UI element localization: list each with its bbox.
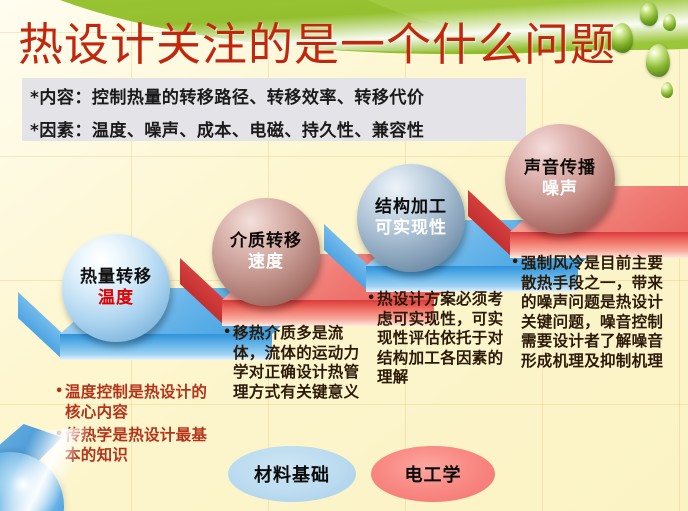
step-sphere-2[interactable]: 介质转移 速度 [212,198,320,306]
info-line-content: *内容：控制热量的转移路径、转移效率、转移代价 [22,78,526,108]
water-drop-green-icon [661,82,673,98]
info-line-factors: *因素：温度、噪声、成本、电磁、持久性、兼容性 [22,108,526,141]
info-box: *内容：控制热量的转移路径、转移效率、转移代价 *因素：温度、噪声、成本、电磁、… [22,78,526,141]
sphere-title: 声音传播 [524,159,596,178]
footer-oval-label: 电工学 [405,461,462,487]
footer-oval-electrical[interactable]: 电工学 [371,446,495,502]
footer-oval-label: 材料基础 [254,461,330,487]
step-sphere-3[interactable]: 结构加工 可实现性 [357,164,465,272]
bullet-item: 移热介质多是流体，流体的运动力学对正确设计热管理方式有关键意义 [224,324,374,402]
bullet-item: 强制风冷是目前主要散热手段之一，带来的噪声问题是热设计关键问题，噪音控制需要设计… [512,254,668,371]
sphere-title: 结构加工 [375,198,447,217]
step-sphere-1[interactable]: 热量转移 温度 [62,234,170,342]
sphere-subtitle: 噪声 [542,180,578,199]
step-bullets-4: 强制风冷是目前主要散热手段之一，带来的噪声问题是热设计关键问题，噪音控制需要设计… [512,254,668,375]
bullet-item: 传热学是热设计最基本的知识 [56,426,208,465]
bullet-item: 温度控制是热设计的核心内容 [56,383,208,422]
bullet-item: 热设计方案必须考虑可实现性，可实现性评估依托于对结构加工各因素的理解 [368,290,518,388]
water-drop-blue-icon [0,452,64,511]
step-bullets-2: 移热介质多是流体，流体的运动力学对正确设计热管理方式有关键意义 [224,324,374,406]
step-sphere-4[interactable]: 声音传播 噪声 [505,124,615,234]
sphere-subtitle: 温度 [98,289,134,308]
slab-side-face [18,292,63,360]
slide-canvas: 热设计关注的是一个什么问题 *内容：控制热量的转移路径、转移效率、转移代价 *因… [0,0,688,511]
sphere-title: 热量转移 [80,268,152,287]
sphere-title: 介质转移 [230,232,302,251]
sphere-subtitle: 可实现性 [375,219,447,238]
footer-oval-material[interactable]: 材料基础 [228,446,356,502]
page-title: 热设计关注的是一个什么问题 [18,19,616,71]
step-bullets-3: 热设计方案必须考虑可实现性，可实现性评估依托于对结构加工各因素的理解 [368,290,518,392]
step-bullets-1: 温度控制是热设计的核心内容 传热学是热设计最基本的知识 [56,383,208,469]
sphere-subtitle: 速度 [248,253,284,272]
